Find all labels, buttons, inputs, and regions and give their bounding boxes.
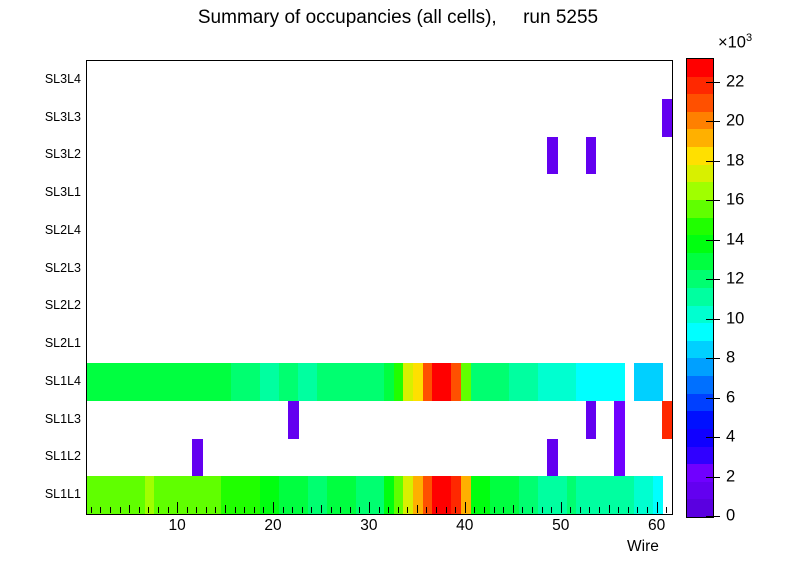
color-bar-tick bbox=[706, 161, 720, 162]
color-bar-exponent-power: 3 bbox=[746, 32, 752, 44]
x-axis-tick bbox=[302, 507, 303, 513]
color-bar-tick bbox=[706, 279, 720, 280]
plot-frame bbox=[86, 60, 673, 515]
y-axis-label-sl1l1: SL1L1 bbox=[45, 487, 81, 501]
heatmap-cell bbox=[614, 401, 624, 439]
color-bar-label-14: 14 bbox=[726, 230, 744, 249]
color-bar-tick bbox=[706, 398, 720, 399]
x-axis-tick bbox=[628, 507, 629, 513]
heatmap-cell bbox=[614, 439, 624, 477]
color-bar-tick bbox=[706, 358, 720, 359]
x-axis-tick bbox=[187, 507, 188, 513]
y-axis-label-sl3l3: SL3L3 bbox=[45, 110, 81, 124]
x-axis-tick bbox=[609, 505, 610, 513]
x-axis-tick bbox=[359, 507, 360, 513]
y-axis-label-sl1l2: SL1L2 bbox=[45, 449, 81, 463]
color-bar-label-10: 10 bbox=[726, 309, 744, 328]
x-axis-tick bbox=[244, 507, 245, 513]
y-axis-label-sl3l4: SL3L4 bbox=[45, 72, 81, 86]
color-bar-axis: 0246810121416182022 bbox=[686, 58, 786, 518]
x-axis-tick bbox=[455, 507, 456, 513]
x-axis-tick bbox=[225, 505, 226, 513]
heatmap-cell bbox=[662, 401, 672, 439]
x-axis-tick bbox=[206, 507, 207, 513]
x-axis-tick bbox=[503, 507, 504, 513]
x-axis-tick bbox=[666, 507, 667, 513]
heatmap-cell bbox=[586, 144, 596, 174]
y-axis-label-sl2l2: SL2L2 bbox=[45, 298, 81, 312]
heatmap-cell bbox=[614, 363, 624, 401]
x-axis-tick bbox=[196, 507, 197, 513]
x-axis-tick bbox=[570, 507, 571, 513]
x-axis-label-20: 20 bbox=[264, 517, 281, 535]
x-axis-tick bbox=[263, 507, 264, 513]
x-axis-tick bbox=[129, 505, 130, 513]
page-title: Summary of occupancies (all cells), run … bbox=[0, 7, 796, 29]
y-axis-label-sl3l2: SL3L2 bbox=[45, 147, 81, 161]
x-axis-tick bbox=[484, 507, 485, 513]
color-bar-tick bbox=[706, 82, 720, 83]
x-axis-tick bbox=[532, 507, 533, 513]
x-axis-label-30: 30 bbox=[360, 517, 377, 535]
x-axis-tick bbox=[589, 507, 590, 513]
x-axis-tick bbox=[139, 507, 140, 513]
x-axis-tick bbox=[350, 507, 351, 513]
heatmap-cell bbox=[653, 476, 663, 514]
x-axis-tick bbox=[417, 505, 418, 513]
color-bar-tick bbox=[706, 240, 720, 241]
color-bar-tick bbox=[706, 516, 720, 517]
color-bar-label-18: 18 bbox=[726, 151, 744, 170]
x-axis-tick bbox=[235, 507, 236, 513]
x-axis-tick bbox=[340, 507, 341, 513]
color-bar-exponent-base: ×10 bbox=[718, 34, 746, 52]
x-axis-tick bbox=[388, 507, 389, 513]
y-axis-label-sl1l4: SL1L4 bbox=[45, 374, 81, 388]
x-axis-tick bbox=[254, 507, 255, 513]
x-axis-label-50: 50 bbox=[552, 517, 569, 535]
x-axis-label-60: 60 bbox=[648, 517, 665, 535]
x-axis-label-10: 10 bbox=[168, 517, 185, 535]
y-axis-label-sl2l4: SL2L4 bbox=[45, 223, 81, 237]
heatmap-cell bbox=[288, 401, 298, 439]
heatmap-row-sl1l3 bbox=[87, 401, 672, 439]
x-axis-tick bbox=[168, 507, 169, 513]
color-bar-label-4: 4 bbox=[726, 428, 735, 447]
x-axis-tick bbox=[465, 502, 466, 513]
color-bar-label-16: 16 bbox=[726, 191, 744, 210]
color-bar-label-0: 0 bbox=[726, 507, 735, 526]
color-bar-label-6: 6 bbox=[726, 388, 735, 407]
x-axis-tick bbox=[110, 507, 111, 513]
heatmap-row-sl1l4 bbox=[87, 363, 672, 401]
x-axis-tick bbox=[599, 507, 600, 513]
heatmap-plot-area bbox=[87, 61, 672, 514]
x-axis-tick bbox=[283, 507, 284, 513]
heatmap-cell bbox=[192, 456, 202, 477]
x-axis-tick bbox=[215, 507, 216, 513]
x-axis-tick bbox=[637, 507, 638, 513]
x-axis-tick bbox=[446, 507, 447, 513]
x-axis-tick bbox=[91, 507, 92, 513]
x-axis-tick bbox=[331, 507, 332, 513]
heatmap-row-sl3l2 bbox=[87, 137, 672, 175]
color-bar-exponent: ×103 bbox=[718, 32, 752, 53]
color-bar-tick bbox=[706, 200, 720, 201]
x-axis-label-40: 40 bbox=[456, 517, 473, 535]
y-axis-labels: SL1L1SL1L2SL1L3SL1L4SL2L1SL2L2SL2L3SL2L4… bbox=[0, 60, 81, 515]
x-axis-tick bbox=[426, 507, 427, 513]
x-axis-tick bbox=[177, 502, 178, 513]
x-axis-tick bbox=[618, 507, 619, 513]
x-axis-tick bbox=[398, 507, 399, 513]
color-bar-label-20: 20 bbox=[726, 112, 744, 131]
x-axis-tick bbox=[580, 507, 581, 513]
x-axis-tick bbox=[369, 502, 370, 513]
heatmap-cell bbox=[662, 99, 672, 137]
x-axis-tick bbox=[436, 507, 437, 513]
heatmap-row-sl1l1 bbox=[87, 476, 672, 514]
x-axis-tick bbox=[494, 507, 495, 513]
color-bar-label-22: 22 bbox=[726, 72, 744, 91]
x-axis-title: Wire bbox=[627, 538, 659, 556]
y-axis-label-sl1l3: SL1L3 bbox=[45, 412, 81, 426]
heatmap-cell bbox=[547, 456, 557, 477]
color-bar-tick bbox=[706, 121, 720, 122]
root-canvas: Summary of occupancies (all cells), run … bbox=[0, 0, 796, 572]
y-axis-label-sl2l1: SL2L1 bbox=[45, 336, 81, 350]
y-axis-label-sl3l1: SL3L1 bbox=[45, 185, 81, 199]
x-axis-tick bbox=[311, 507, 312, 513]
x-axis-tick bbox=[542, 507, 543, 513]
y-axis-label-sl2l3: SL2L3 bbox=[45, 261, 81, 275]
color-bar-label-12: 12 bbox=[726, 270, 744, 289]
x-axis-tick bbox=[158, 507, 159, 513]
x-axis-tick bbox=[407, 507, 408, 513]
x-axis-tick bbox=[551, 507, 552, 513]
x-axis-tick bbox=[474, 507, 475, 513]
x-axis-tick bbox=[647, 507, 648, 513]
x-axis-tick bbox=[657, 502, 658, 513]
x-axis-tick bbox=[273, 502, 274, 513]
x-axis-tick bbox=[522, 507, 523, 513]
color-bar-tick bbox=[706, 319, 720, 320]
x-axis-tick bbox=[561, 502, 562, 513]
heatmap-row-sl1l2 bbox=[87, 439, 672, 477]
color-bar-label-8: 8 bbox=[726, 349, 735, 368]
x-axis-tick bbox=[292, 507, 293, 513]
color-bar-tick bbox=[706, 437, 720, 438]
heatmap-cell bbox=[547, 144, 557, 174]
x-axis-tick bbox=[120, 507, 121, 513]
x-axis-tick bbox=[379, 507, 380, 513]
color-bar-label-2: 2 bbox=[726, 467, 735, 486]
color-bar-tick bbox=[706, 477, 720, 478]
x-axis-tick bbox=[148, 507, 149, 513]
heatmap-cell bbox=[586, 416, 596, 439]
heatmap-cell bbox=[653, 363, 663, 401]
x-axis-tick bbox=[100, 507, 101, 513]
heatmap-row-sl3l3 bbox=[87, 99, 672, 137]
x-axis-tick bbox=[321, 505, 322, 513]
x-axis-tick bbox=[513, 505, 514, 513]
